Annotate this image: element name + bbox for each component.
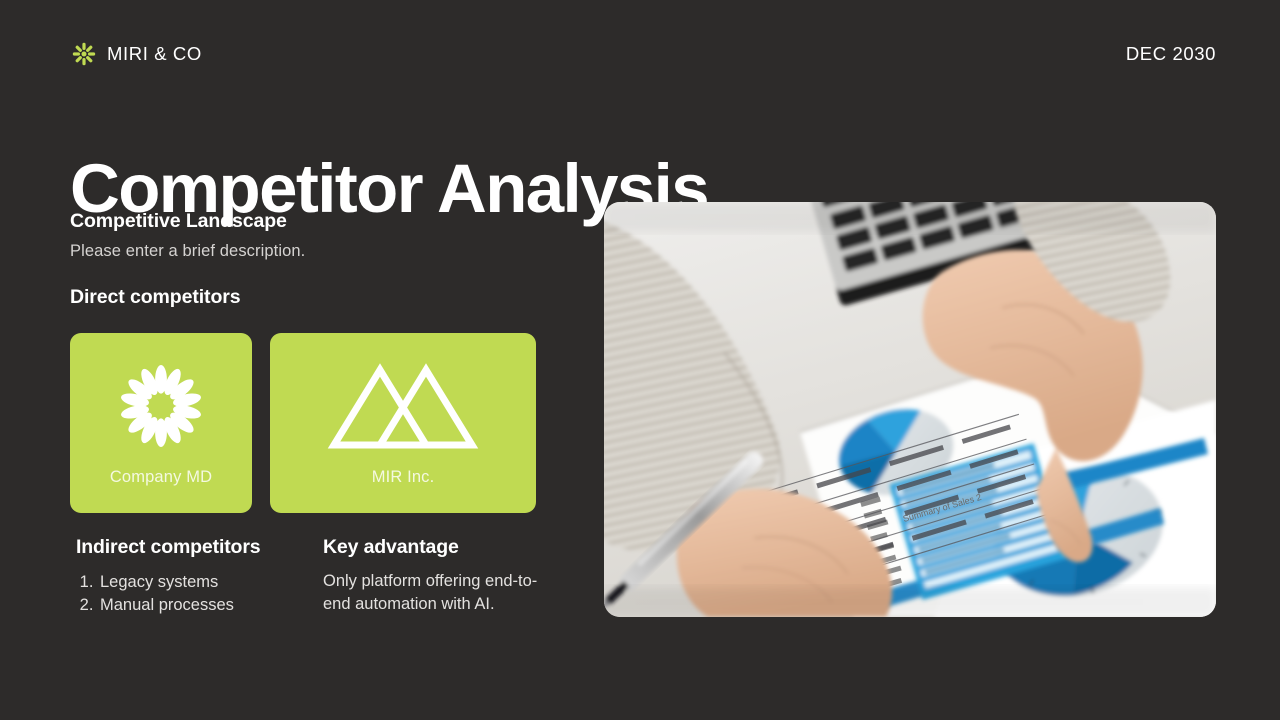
- brand-lockup: MIRI & CO: [72, 42, 202, 66]
- competitor-card-mir-inc[interactable]: MIR Inc.: [270, 333, 536, 513]
- list-item: Legacy systems: [98, 571, 323, 594]
- slide-root: MIRI & CO DEC 2030 Competitor Analysis C…: [0, 0, 1280, 720]
- photo-illustration: Summary Report Summary of Sales Summary …: [604, 202, 1216, 617]
- asterisk-burst-icon: [72, 42, 96, 66]
- competitor-card-label: MIR Inc.: [372, 468, 435, 487]
- section-heading-competitive-landscape: Competitive Landscape: [70, 210, 550, 233]
- left-content-column: Competitive Landscape Please enter a bri…: [70, 210, 550, 309]
- slide-header: MIRI & CO DEC 2030: [72, 36, 1216, 72]
- hero-photo: Summary Report Summary of Sales Summary …: [604, 202, 1216, 617]
- key-advantage-heading: Key advantage: [323, 536, 573, 559]
- key-advantage-text: Only platform offering end-to-end automa…: [323, 570, 545, 616]
- section-description: Please enter a brief description.: [70, 242, 550, 261]
- list-item: Manual processes: [98, 594, 323, 617]
- indirect-competitors-list: Legacy systems Manual processes: [76, 571, 323, 618]
- double-mountain-icon: [327, 360, 479, 452]
- brand-name: MIRI & CO: [107, 43, 202, 65]
- competitor-card-label: Company MD: [110, 468, 212, 487]
- slide-date: DEC 2030: [1126, 43, 1216, 65]
- indirect-competitors-heading: Indirect competitors: [76, 536, 323, 559]
- direct-competitor-cards: Company MD MIR Inc.: [70, 333, 536, 513]
- competitor-card-company-md[interactable]: Company MD: [70, 333, 252, 513]
- bottom-detail-columns: Indirect competitors Legacy systems Manu…: [76, 536, 576, 618]
- key-advantage-block: Key advantage Only platform offering end…: [323, 536, 573, 618]
- indirect-competitors-block: Indirect competitors Legacy systems Manu…: [76, 536, 323, 618]
- flower-petal-burst-icon: [115, 360, 207, 452]
- subsection-heading-direct-competitors: Direct competitors: [70, 286, 550, 309]
